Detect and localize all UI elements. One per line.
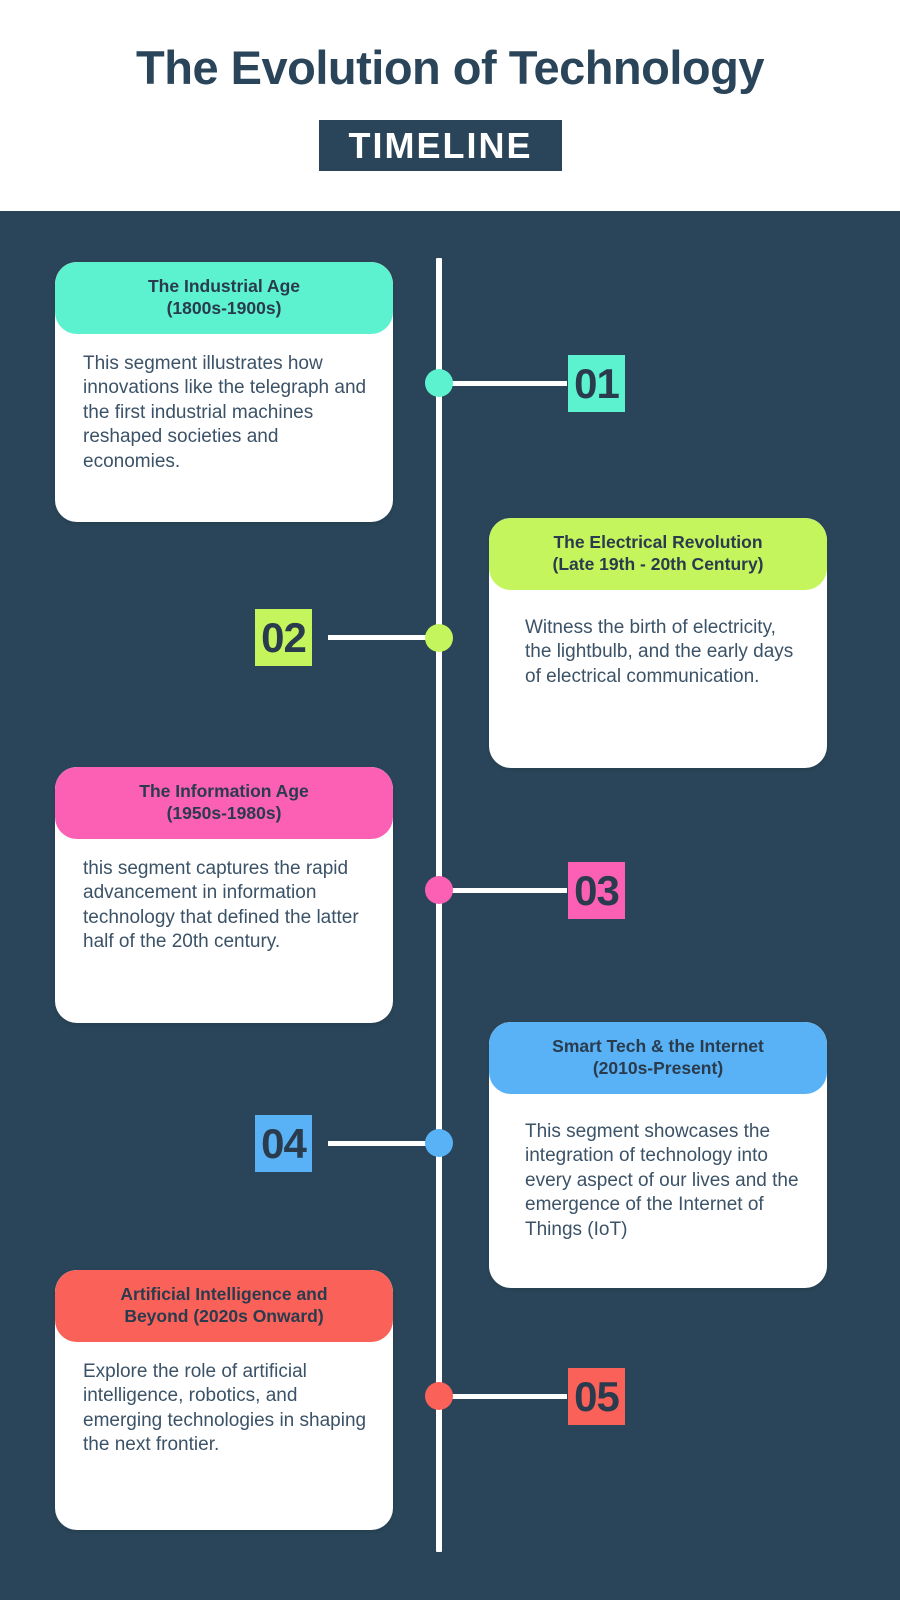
card-body-04: This segment showcases the integration o… [489, 1094, 827, 1259]
card-title-line1-02: The Electrical Revolution [553, 532, 762, 552]
page-title: The Evolution of Technology [0, 42, 900, 94]
timeline-dot-04[interactable] [425, 1129, 453, 1157]
card-title-line2-02: (Late 19th - 20th Century) [553, 554, 764, 574]
card-body-02: Witness the birth of electricity, the li… [489, 590, 827, 706]
connector-01 [452, 381, 567, 386]
timeline-spine [436, 258, 442, 1552]
card-header-03: The Information Age (1950s-1980s) [55, 767, 393, 839]
card-title-line1-03: The Information Age [139, 781, 309, 801]
card-title-line1-01: The Industrial Age [148, 276, 300, 296]
timeline-dot-02[interactable] [425, 624, 453, 652]
timeline-card-01[interactable]: The Industrial Age (1800s-1900s) This se… [55, 262, 393, 522]
timeline-number-02: 02 [255, 609, 312, 666]
connector-05 [452, 1394, 567, 1399]
card-title-line2-04: (2010s-Present) [593, 1058, 723, 1078]
timeline-number-01: 01 [568, 355, 625, 412]
card-title-line1-04: Smart Tech & the Internet [552, 1036, 764, 1056]
timeline-dot-03[interactable] [425, 876, 453, 904]
card-body-01: This segment illustrates how innovations… [55, 334, 393, 491]
header: The Evolution of Technology TIMELINE [0, 0, 900, 211]
timeline-card-05[interactable]: Artificial Intelligence and Beyond (2020… [55, 1270, 393, 1530]
card-header-02: The Electrical Revolution (Late 19th - 2… [489, 518, 827, 590]
timeline-dot-01[interactable] [425, 369, 453, 397]
card-body-05: Explore the role of artificial intellige… [55, 1342, 393, 1474]
timeline-number-03: 03 [568, 862, 625, 919]
card-title-line1-05: Artificial Intelligence and [120, 1284, 327, 1304]
timeline-card-03[interactable]: The Information Age (1950s-1980s) this s… [55, 767, 393, 1023]
card-header-04: Smart Tech & the Internet (2010s-Present… [489, 1022, 827, 1094]
card-header-01: The Industrial Age (1800s-1900s) [55, 262, 393, 334]
timeline-infographic: The Evolution of Technology TIMELINE The… [0, 0, 900, 1600]
card-title-line2-03: (1950s-1980s) [167, 803, 282, 823]
timeline-canvas: The Industrial Age (1800s-1900s) This se… [0, 211, 900, 1600]
timeline-dot-05[interactable] [425, 1382, 453, 1410]
card-header-05: Artificial Intelligence and Beyond (2020… [55, 1270, 393, 1342]
timeline-number-04: 04 [255, 1115, 312, 1172]
card-body-03: this segment captures the rapid advancem… [55, 839, 393, 971]
card-title-line2-05: Beyond (2020s Onward) [124, 1306, 323, 1326]
timeline-badge: TIMELINE [319, 120, 562, 171]
connector-04 [328, 1141, 440, 1146]
timeline-number-05: 05 [568, 1368, 625, 1425]
timeline-card-04[interactable]: Smart Tech & the Internet (2010s-Present… [489, 1022, 827, 1288]
connector-03 [452, 888, 567, 893]
card-title-line2-01: (1800s-1900s) [167, 298, 282, 318]
connector-02 [328, 635, 440, 640]
timeline-card-02[interactable]: The Electrical Revolution (Late 19th - 2… [489, 518, 827, 768]
